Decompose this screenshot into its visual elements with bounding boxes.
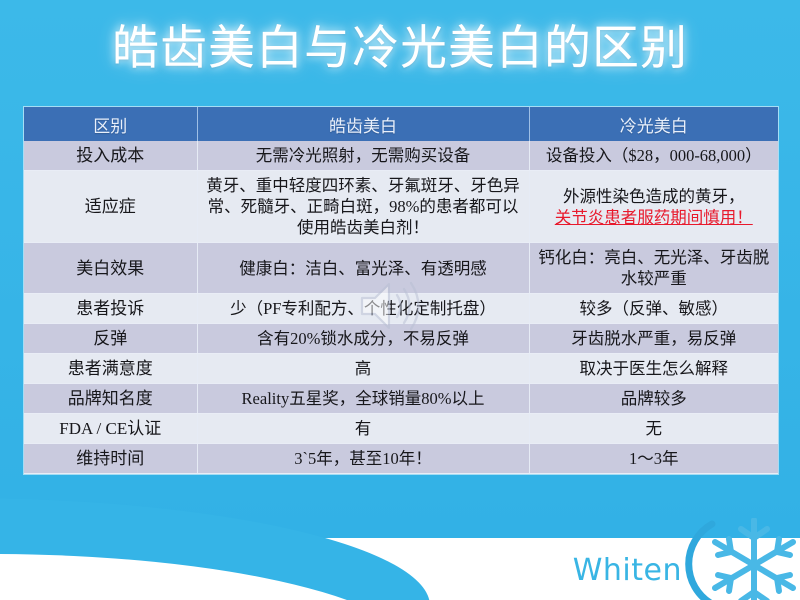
row-label: 美白效果 bbox=[24, 243, 197, 294]
column-header-category: 区别 bbox=[24, 107, 197, 141]
warning-text: 关节炎患者服药期间慎用！ bbox=[555, 208, 753, 227]
row-cell-haochi: 无需冷光照射，无需购买设备 bbox=[197, 141, 529, 171]
row-cell-lengguang: 1～3年 bbox=[529, 444, 778, 474]
row-label: FDA / CE认证 bbox=[24, 414, 197, 444]
row-label: 反弹 bbox=[24, 324, 197, 354]
row-cell-haochi: 含有20%锁水成分，不易反弹 bbox=[197, 324, 529, 354]
snowflake-icon bbox=[678, 518, 800, 600]
table-row: 反弹 含有20%锁水成分，不易反弹 牙齿脱水严重，易反弹 bbox=[24, 324, 778, 354]
row-label: 维持时间 bbox=[24, 444, 197, 474]
row-cell-lengguang: 钙化白：亮白、无光泽、牙齿脱水较严重 bbox=[529, 243, 778, 294]
row-cell-haochi: 3`5年，甚至10年！ bbox=[197, 444, 529, 474]
table-row: 适应症 黄牙、重中轻度四环素、牙氟斑牙、牙色异常、死髓牙、正畸白斑，98%的患者… bbox=[24, 171, 778, 243]
table-row: 投入成本 无需冷光照射，无需购买设备 设备投入（$28，000-68,000） bbox=[24, 141, 778, 171]
row-cell-lengguang: 设备投入（$28，000-68,000） bbox=[529, 141, 778, 171]
table-row: 美白效果 健康白：洁白、富光泽、有透明感 钙化白：亮白、无光泽、牙齿脱水较严重 bbox=[24, 243, 778, 294]
column-header-haochi: 皓齿美白 bbox=[197, 107, 529, 141]
slide-canvas: 皓齿美白与冷光美白的区别 区别 皓齿美白 冷光美白 投入成本 无需冷光照射，无需… bbox=[0, 0, 800, 600]
table-row: 品牌知名度 Reality五星奖，全球销量80%以上 品牌较多 bbox=[24, 384, 778, 414]
row-cell-haochi: 少（PF专利配方、个性化定制托盘） bbox=[197, 294, 529, 324]
table-row: FDA / CE认证 有 无 bbox=[24, 414, 778, 444]
row-cell-haochi: 高 bbox=[197, 354, 529, 384]
page-title: 皓齿美白与冷光美白的区别 bbox=[0, 20, 800, 78]
row-cell-lengguang: 取决于医生怎么解释 bbox=[529, 354, 778, 384]
row-cell-haochi: 黄牙、重中轻度四环素、牙氟斑牙、牙色异常、死髓牙、正畸白斑，98%的患者都可以使… bbox=[197, 171, 529, 243]
table-header-row: 区别 皓齿美白 冷光美白 bbox=[24, 107, 778, 141]
row-cell-haochi: 有 bbox=[197, 414, 529, 444]
row-cell-lengguang: 牙齿脱水严重，易反弹 bbox=[529, 324, 778, 354]
row-label: 品牌知名度 bbox=[24, 384, 197, 414]
row-cell-lengguang: 外源性染色造成的黄牙， 关节炎患者服药期间慎用！ bbox=[529, 171, 778, 243]
row-cell-haochi: Reality五星奖，全球销量80%以上 bbox=[197, 384, 529, 414]
row-label: 适应症 bbox=[24, 171, 197, 243]
column-header-lengguang: 冷光美白 bbox=[529, 107, 778, 141]
row-cell-lengguang: 无 bbox=[529, 414, 778, 444]
row-cell-haochi: 健康白：洁白、富光泽、有透明感 bbox=[197, 243, 529, 294]
brand-name: Whiten bbox=[573, 553, 682, 588]
row-label: 患者满意度 bbox=[24, 354, 197, 384]
comparison-table: 区别 皓齿美白 冷光美白 投入成本 无需冷光照射，无需购买设备 设备投入（$28… bbox=[24, 107, 778, 474]
row-label: 投入成本 bbox=[24, 141, 197, 171]
comparison-table-wrapper: 区别 皓齿美白 冷光美白 投入成本 无需冷光照射，无需购买设备 设备投入（$28… bbox=[24, 107, 778, 474]
row-cell-lengguang: 品牌较多 bbox=[529, 384, 778, 414]
cell-text-line: 外源性染色造成的黄牙， bbox=[563, 187, 745, 206]
row-cell-lengguang: 较多（反弹、敏感） bbox=[529, 294, 778, 324]
table-row: 维持时间 3`5年，甚至10年！ 1～3年 bbox=[24, 444, 778, 474]
row-label: 患者投诉 bbox=[24, 294, 197, 324]
table-row: 患者投诉 少（PF专利配方、个性化定制托盘） 较多（反弹、敏感） bbox=[24, 294, 778, 324]
table-row: 患者满意度 高 取决于医生怎么解释 bbox=[24, 354, 778, 384]
